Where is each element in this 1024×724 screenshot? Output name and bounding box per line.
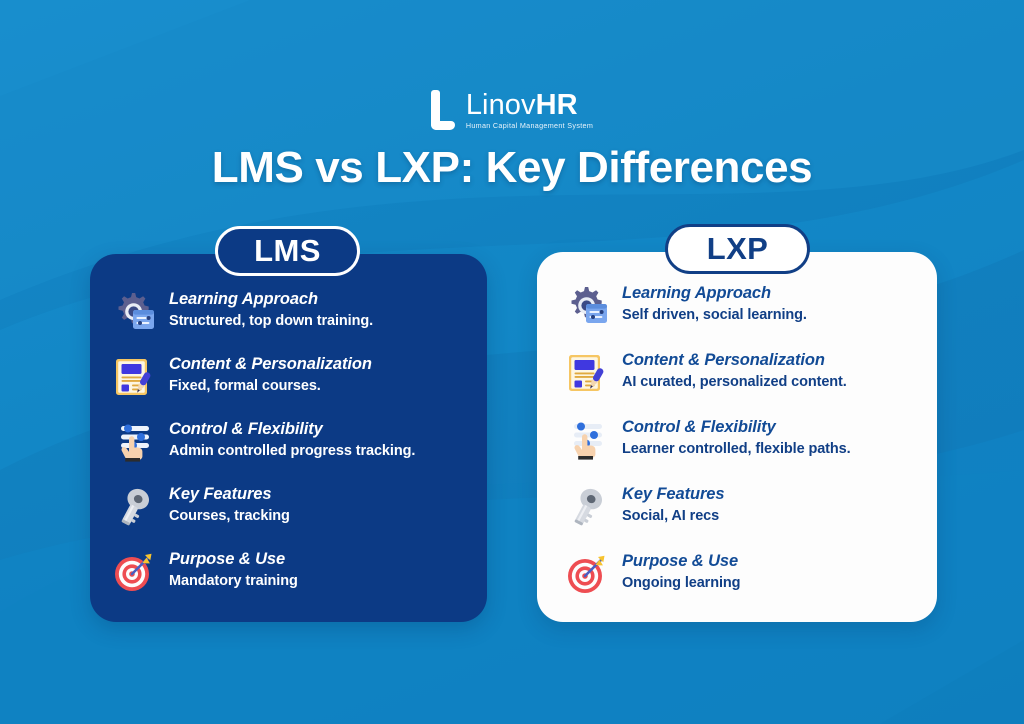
brand-tagline: Human Capital Management System	[466, 121, 593, 131]
linovhr-l-mark-icon	[431, 90, 457, 130]
list-item: Content & Personalization AI curated, pe…	[565, 349, 965, 395]
list-item: Control & Flexibility Admin controlled p…	[112, 418, 509, 464]
card-lxp: Learning Approach Self driven, social le…	[537, 252, 937, 622]
list-item: Learning Approach Structured, top down t…	[112, 288, 509, 334]
gear-settings-icon	[112, 290, 156, 334]
badge-lms: LMS	[215, 226, 360, 276]
list-item-desc: Self driven, social learning.	[622, 306, 807, 325]
infographic-canvas: LinovHR Human Capital Management System …	[0, 0, 1024, 724]
list-item-text: Key Features Social, AI recs	[622, 483, 724, 526]
list-item: Content & Personalization Fixed, formal …	[112, 353, 509, 399]
list-item-desc: Fixed, formal courses.	[169, 377, 372, 396]
list-item-desc: Ongoing learning	[622, 574, 740, 593]
brand-logo: LinovHR Human Capital Management System	[0, 84, 1024, 136]
card-lms-rows: Learning Approach Structured, top down t…	[90, 254, 509, 613]
list-item: Purpose & Use Ongoing learning	[565, 550, 965, 596]
brand-logo-text: LinovHR Human Capital Management System	[466, 90, 593, 131]
list-item-text: Content & Personalization Fixed, formal …	[169, 353, 372, 396]
list-item: Learning Approach Self driven, social le…	[565, 282, 965, 328]
list-item-text: Purpose & Use Mandatory training	[169, 548, 298, 591]
list-item-text: Learning Approach Self driven, social le…	[622, 282, 807, 325]
key-icon	[565, 485, 609, 529]
key-icon	[112, 485, 156, 529]
card-lxp-rows: Learning Approach Self driven, social le…	[537, 252, 965, 617]
list-item-title: Key Features	[169, 484, 290, 504]
list-item: Control & Flexibility Learner controlled…	[565, 416, 965, 462]
list-item-text: Content & Personalization AI curated, pe…	[622, 349, 847, 392]
brand-name: LinovHR	[466, 90, 593, 120]
card-lms: Learning Approach Structured, top down t…	[90, 254, 487, 622]
list-item-title: Content & Personalization	[169, 354, 372, 374]
list-item-title: Control & Flexibility	[169, 419, 415, 439]
gear-settings-icon	[565, 284, 609, 328]
list-item-text: Purpose & Use Ongoing learning	[622, 550, 740, 593]
list-item-desc: Admin controlled progress tracking.	[169, 442, 415, 461]
list-item: Key Features Courses, tracking	[112, 483, 509, 529]
page-title: LMS vs LXP: Key Differences	[0, 140, 1024, 196]
target-dart-icon	[565, 552, 609, 596]
list-item: Key Features Social, AI recs	[565, 483, 965, 529]
target-dart-icon	[112, 550, 156, 594]
list-item-text: Learning Approach Structured, top down t…	[169, 288, 373, 331]
list-item-title: Learning Approach	[622, 283, 807, 303]
content-card-pen-icon	[565, 351, 609, 395]
list-item-desc: Learner controlled, flexible paths.	[622, 440, 851, 459]
list-item-title: Purpose & Use	[622, 551, 740, 571]
list-item-desc: Courses, tracking	[169, 507, 290, 526]
sliders-hand-icon	[112, 420, 156, 464]
badge-lxp: LXP	[665, 224, 810, 274]
list-item-desc: AI curated, personalized content.	[622, 373, 847, 392]
list-item-title: Control & Flexibility	[622, 417, 851, 437]
list-item-title: Purpose & Use	[169, 549, 298, 569]
list-item-title: Learning Approach	[169, 289, 373, 309]
list-item-desc: Mandatory training	[169, 572, 298, 591]
list-item-title: Key Features	[622, 484, 724, 504]
list-item-title: Content & Personalization	[622, 350, 847, 370]
list-item-desc: Structured, top down training.	[169, 312, 373, 331]
list-item-text: Control & Flexibility Learner controlled…	[622, 416, 851, 459]
list-item-text: Key Features Courses, tracking	[169, 483, 290, 526]
list-item: Purpose & Use Mandatory training	[112, 548, 509, 594]
sliders-hand-icon	[565, 418, 609, 462]
list-item-text: Control & Flexibility Admin controlled p…	[169, 418, 415, 461]
list-item-desc: Social, AI recs	[622, 507, 724, 526]
content-card-pen-icon	[112, 355, 156, 399]
